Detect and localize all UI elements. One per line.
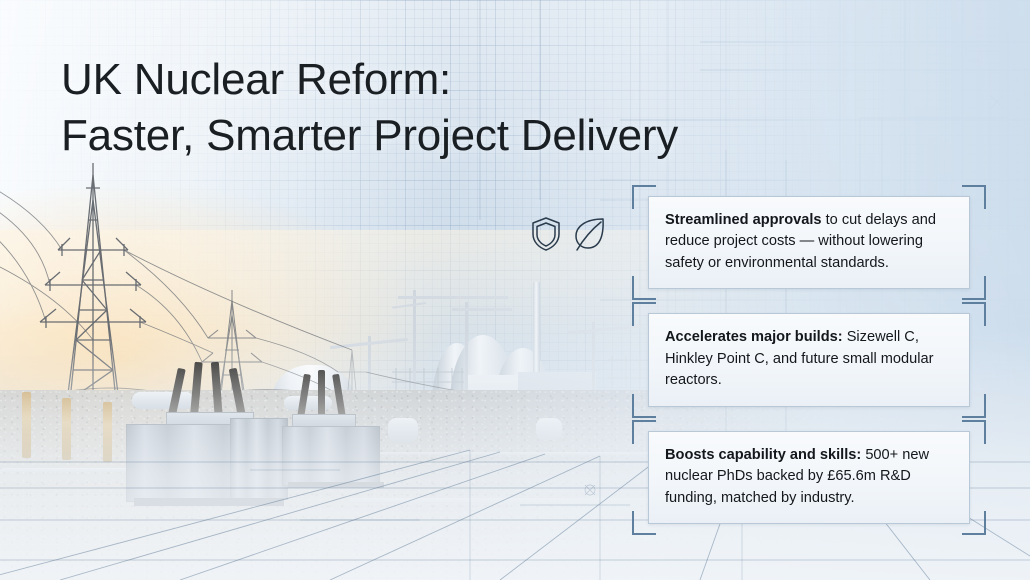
page-title: UK Nuclear Reform: Faster, Smarter Proje…: [61, 52, 678, 165]
feature-card-text: Boosts capability and skills: 500+ new n…: [665, 445, 953, 509]
feature-card-lead: Boosts capability and skills:: [665, 447, 861, 463]
feature-card-lead: Streamlined approvals: [665, 212, 822, 228]
feature-card-text: Accelerates major builds: Sizewell C, Hi…: [665, 327, 953, 391]
feature-card-lead: Accelerates major builds:: [665, 329, 843, 345]
feature-card-approvals[interactable]: Streamlined approvals to cut delays and …: [648, 196, 970, 289]
feature-card-capability-skills[interactable]: Boosts capability and skills: 500+ new n…: [648, 431, 970, 524]
feature-card-wrapper: Streamlined approvals to cut delays and …: [648, 196, 970, 289]
feature-card-wrapper: Accelerates major builds: Sizewell C, Hi…: [648, 313, 970, 406]
icon-group: [531, 216, 607, 252]
feature-card-major-builds[interactable]: Accelerates major builds: Sizewell C, Hi…: [648, 313, 970, 406]
poster-canvas: 1200 900 500: [0, 0, 1030, 580]
shield-icon: [531, 216, 561, 252]
leaf-icon: [573, 216, 607, 252]
feature-cards: Streamlined approvals to cut delays and …: [648, 196, 970, 524]
feature-card-text: Streamlined approvals to cut delays and …: [665, 210, 953, 274]
feature-card-wrapper: Boosts capability and skills: 500+ new n…: [648, 431, 970, 524]
